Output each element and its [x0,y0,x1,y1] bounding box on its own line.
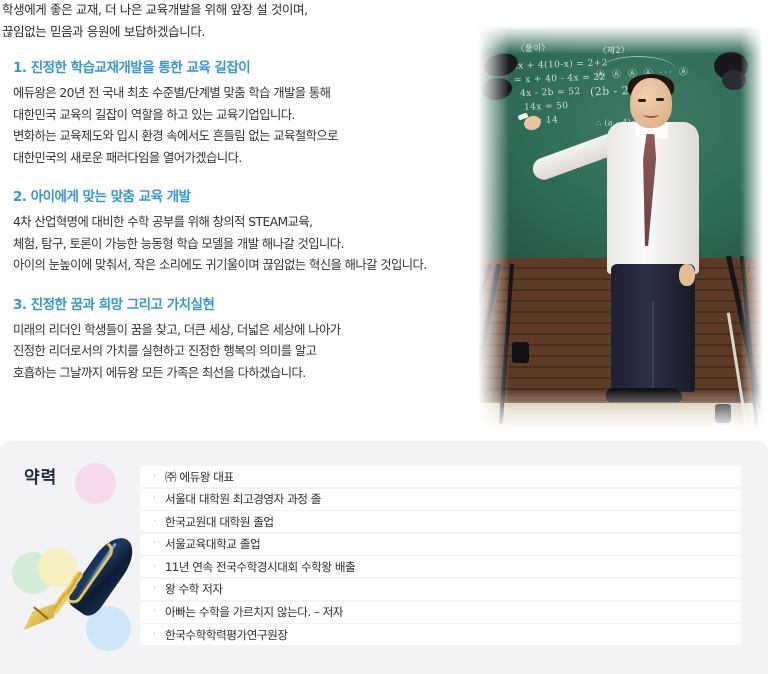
career-list-item: · 서울교육대학교 졸업 [140,534,741,555]
teacher-eye-left [638,99,646,102]
section-1-line-4: 대한민국의 새로운 패러다임을 열어가겠습니다. [13,148,475,170]
bullet-icon: · [153,472,160,482]
bullet-icon: · [153,562,160,572]
philosophy-section-1: 1. 진정한 학습교재개발을 통한 교육 길잡이 에듀왕은 20년 전 국내 최… [13,58,475,169]
teacher-eye-right [656,98,664,101]
studio-lamp-4 [722,70,746,90]
bullet-icon: · [153,630,160,640]
career-item-text: 한국교원대 대학원 졸업 [165,514,274,530]
career-heading: 약력 [24,463,57,488]
section-3-line-1: 미래의 리더인 학생들이 꿈을 찾고, 더큰 세상, 더넓은 세상에 나아가 [13,320,475,342]
bullet-icon: · [153,607,160,617]
tripod-joint-right [715,404,731,423]
section-2-line-3: 아이의 눈높이에 맞춰서, 작은 소리에도 귀기울이며 끊임없는 혁신을 해나갈… [13,255,475,277]
decor-circle-pink [75,463,116,504]
career-item-text: 아빠는 수학을 가르치지 않는다. – 저자 [165,604,343,620]
section-3-body: 미래의 리더인 학생들이 꿈을 찾고, 더큰 세상, 더넓은 세상에 나아가 진… [13,320,475,385]
section-1-line-2: 대한민국 교육의 길잡이 역할을 하고 있는 교육기업입니다. [13,105,475,127]
bullet-icon: · [153,494,160,504]
career-item-text: 서울교육대학교 졸업 [165,536,260,552]
intro-line-1: 학생에게 좋은 교재, 더 나은 교육개발을 위해 앞장 설 것이며, [2,0,472,21]
pen-nib [24,604,54,630]
career-list-item: · 아빠는 수학을 가르치지 않는다. – 저자 [140,602,741,623]
section-3-title: 3. 진정한 꿈과 희망 그리고 가치실현 [13,295,475,315]
section-1-line-1: 에듀왕은 20년 전 국내 최초 수준별/단계별 맞춤 학습 개발을 통해 [13,83,475,105]
career-list-item: · 서울대 대학원 최고경영자 과정 졸 [140,489,741,510]
bullet-icon: · [153,517,160,527]
philosophy-section-3: 3. 진정한 꿈과 희망 그리고 가치실현 미래의 리더인 학생들이 꿈을 찾고… [13,295,475,385]
intro-paragraph: 학생에게 좋은 교재, 더 나은 교육개발을 위해 앞장 설 것이며, 끊임없는… [2,0,472,43]
section-3-line-2: 진정한 리더로서의 가치를 실현하고 진정한 행복의 의미를 알고 [13,341,475,363]
career-list: · ㈜ 에듀왕 대표 · 서울대 대학원 최고경영자 과정 졸 · 한국교원대 … [140,466,741,647]
teacher-photo-inner: 〈풀이〉 2x + 4(10-x) = 2+2 = x + 40 - 4x = … [478,26,763,430]
section-2-line-2: 체험, 탐구, 토론이 가능한 능동형 학습 모델을 개발 해나갈 것입니다. [13,234,475,256]
tripod-joint-left [512,342,529,363]
career-list-item: · 한국교원대 대학원 졸업 [140,511,741,532]
trouser-crease [652,302,654,394]
section-2-line-1: 4차 산업혁명에 대비한 수학 공부를 위해 창의적 STEAM교육, [13,212,475,234]
intro-line-2: 끊임없는 믿음과 응원에 보답하겠습니다. [2,21,472,43]
career-item-text: 11년 연속 전국수학경시대회 수학왕 배출 [165,559,355,575]
career-item-text: 서울대 대학원 최고경영자 과정 졸 [165,491,321,507]
company-introduction-page: 학생에게 좋은 교재, 더 나은 교육개발을 위해 앞장 설 것이며, 끊임없는… [0,0,768,674]
section-2-title: 2. 아이에게 맞는 맞춤 교육 개발 [13,187,475,207]
teacher-hand-lower [679,264,695,286]
section-1-body: 에듀왕은 20년 전 국내 최초 수준별/단계별 맞춤 학습 개발을 통해 대한… [13,83,475,169]
section-1-line-3: 변화하는 교육제도와 입시 환경 속에서도 흔들림 없는 교육철학으로 [13,126,475,148]
philosophy-sections: 1. 진정한 학습교재개발을 통한 교육 길잡이 에듀왕은 20년 전 국내 최… [13,58,475,402]
section-3-line-3: 호흡하는 그날까지 에듀왕 모든 가족은 최선을 다하겠습니다. [13,363,475,385]
career-list-item: · 한국수학학력평가연구원장 [140,624,741,645]
teacher-photo: 〈풀이〉 2x + 4(10-x) = 2+2 = x + 40 - 4x = … [478,26,763,430]
teacher-figure [478,26,763,430]
career-item-text: 한국수학학력평가연구원장 [165,627,288,643]
section-1-title: 1. 진정한 학습교재개발을 통한 교육 길잡이 [13,58,475,78]
section-2-body: 4차 산업혁명에 대비한 수학 공부를 위해 창의적 STEAM교육, 체험, … [13,212,475,277]
career-list-item: · 11년 연속 전국수학경시대회 수학왕 배출 [140,556,741,577]
career-list-item: · ㈜ 에듀왕 대표 [140,466,741,487]
career-item-text: ㈜ 에듀왕 대표 [165,469,234,485]
teacher-head [630,78,672,128]
teacher-shoe-right [638,388,682,402]
bullet-icon: · [153,539,160,549]
bullet-icon: · [153,584,160,594]
career-item-text: 왕 수학 저자 [165,581,223,597]
teacher-smile [643,111,659,118]
tripod-band [716,423,739,430]
philosophy-section-2: 2. 아이에게 맞는 맞춤 교육 개발 4차 산업혁명에 대비한 수학 공부를 … [13,187,475,277]
fountain-pen-icon [22,520,140,638]
career-list-item: · 왕 수학 저자 [140,579,741,600]
